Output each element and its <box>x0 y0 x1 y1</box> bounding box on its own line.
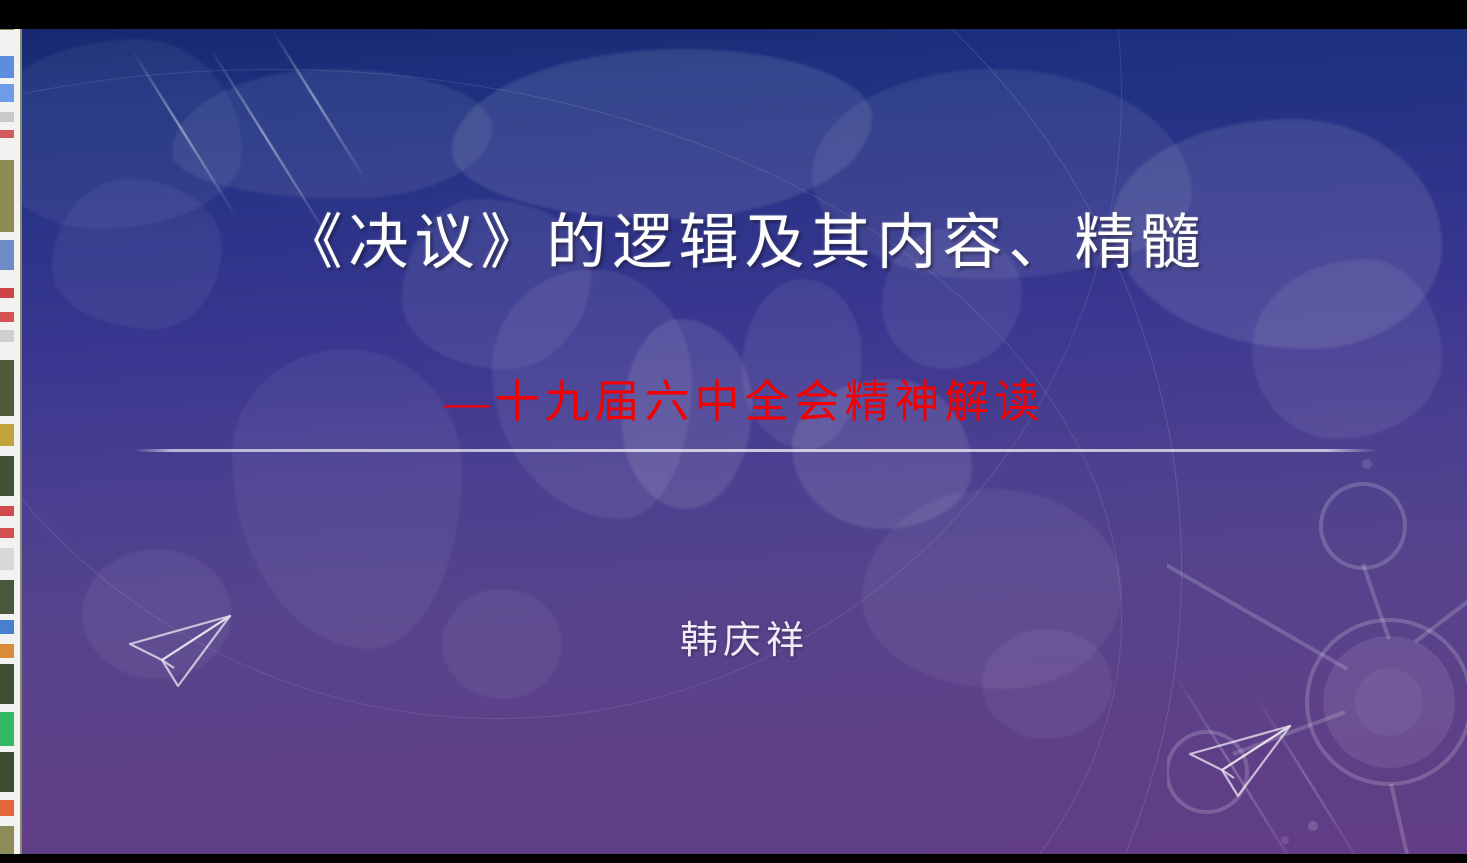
top-letterbox-bar <box>0 0 1467 29</box>
slide-author: 韩庆祥 <box>22 609 1467 664</box>
sliver-fragment <box>0 548 14 570</box>
screen-root: 《决议》的逻辑及其内容、精髓 —十九届六中全会精神解读 韩庆祥 <box>0 0 1467 863</box>
sliver-fragment <box>0 56 14 78</box>
sliver-fragment <box>0 240 14 270</box>
sliver-edge <box>20 0 22 863</box>
divider-line <box>134 449 1377 452</box>
sliver-fragment <box>0 712 14 746</box>
slide-title: 《决议》的逻辑及其内容、精髓 <box>22 194 1467 281</box>
sliver-fragment <box>0 424 14 446</box>
sliver-fragment <box>0 528 14 538</box>
sliver-fragment <box>0 112 14 122</box>
sliver-fragment <box>0 456 14 496</box>
sliver-fragment <box>0 84 14 102</box>
slide-subtitle: —十九届六中全会精神解读 <box>22 365 1467 430</box>
sliver-fragment <box>0 580 14 614</box>
sliver-fragment <box>0 288 14 298</box>
sliver-fragment <box>0 826 14 856</box>
background-window-sliver[interactable] <box>0 0 22 863</box>
sliver-fragment <box>0 800 14 816</box>
sliver-fragment <box>0 360 14 416</box>
sliver-fragment <box>0 160 14 232</box>
sliver-fragment <box>0 130 14 138</box>
sliver-fragment <box>0 752 14 792</box>
sliver-fragment <box>0 664 14 704</box>
sliver-fragment <box>0 330 14 342</box>
presentation-slide[interactable]: 《决议》的逻辑及其内容、精髓 —十九届六中全会精神解读 韩庆祥 <box>22 29 1467 854</box>
sliver-fragment <box>0 644 14 658</box>
sliver-fragment <box>0 312 14 322</box>
sliver-fragment <box>0 620 14 634</box>
paper-plane-icon <box>1182 714 1302 799</box>
bottom-letterbox-bar <box>0 854 1467 863</box>
sliver-fragment <box>0 506 14 516</box>
